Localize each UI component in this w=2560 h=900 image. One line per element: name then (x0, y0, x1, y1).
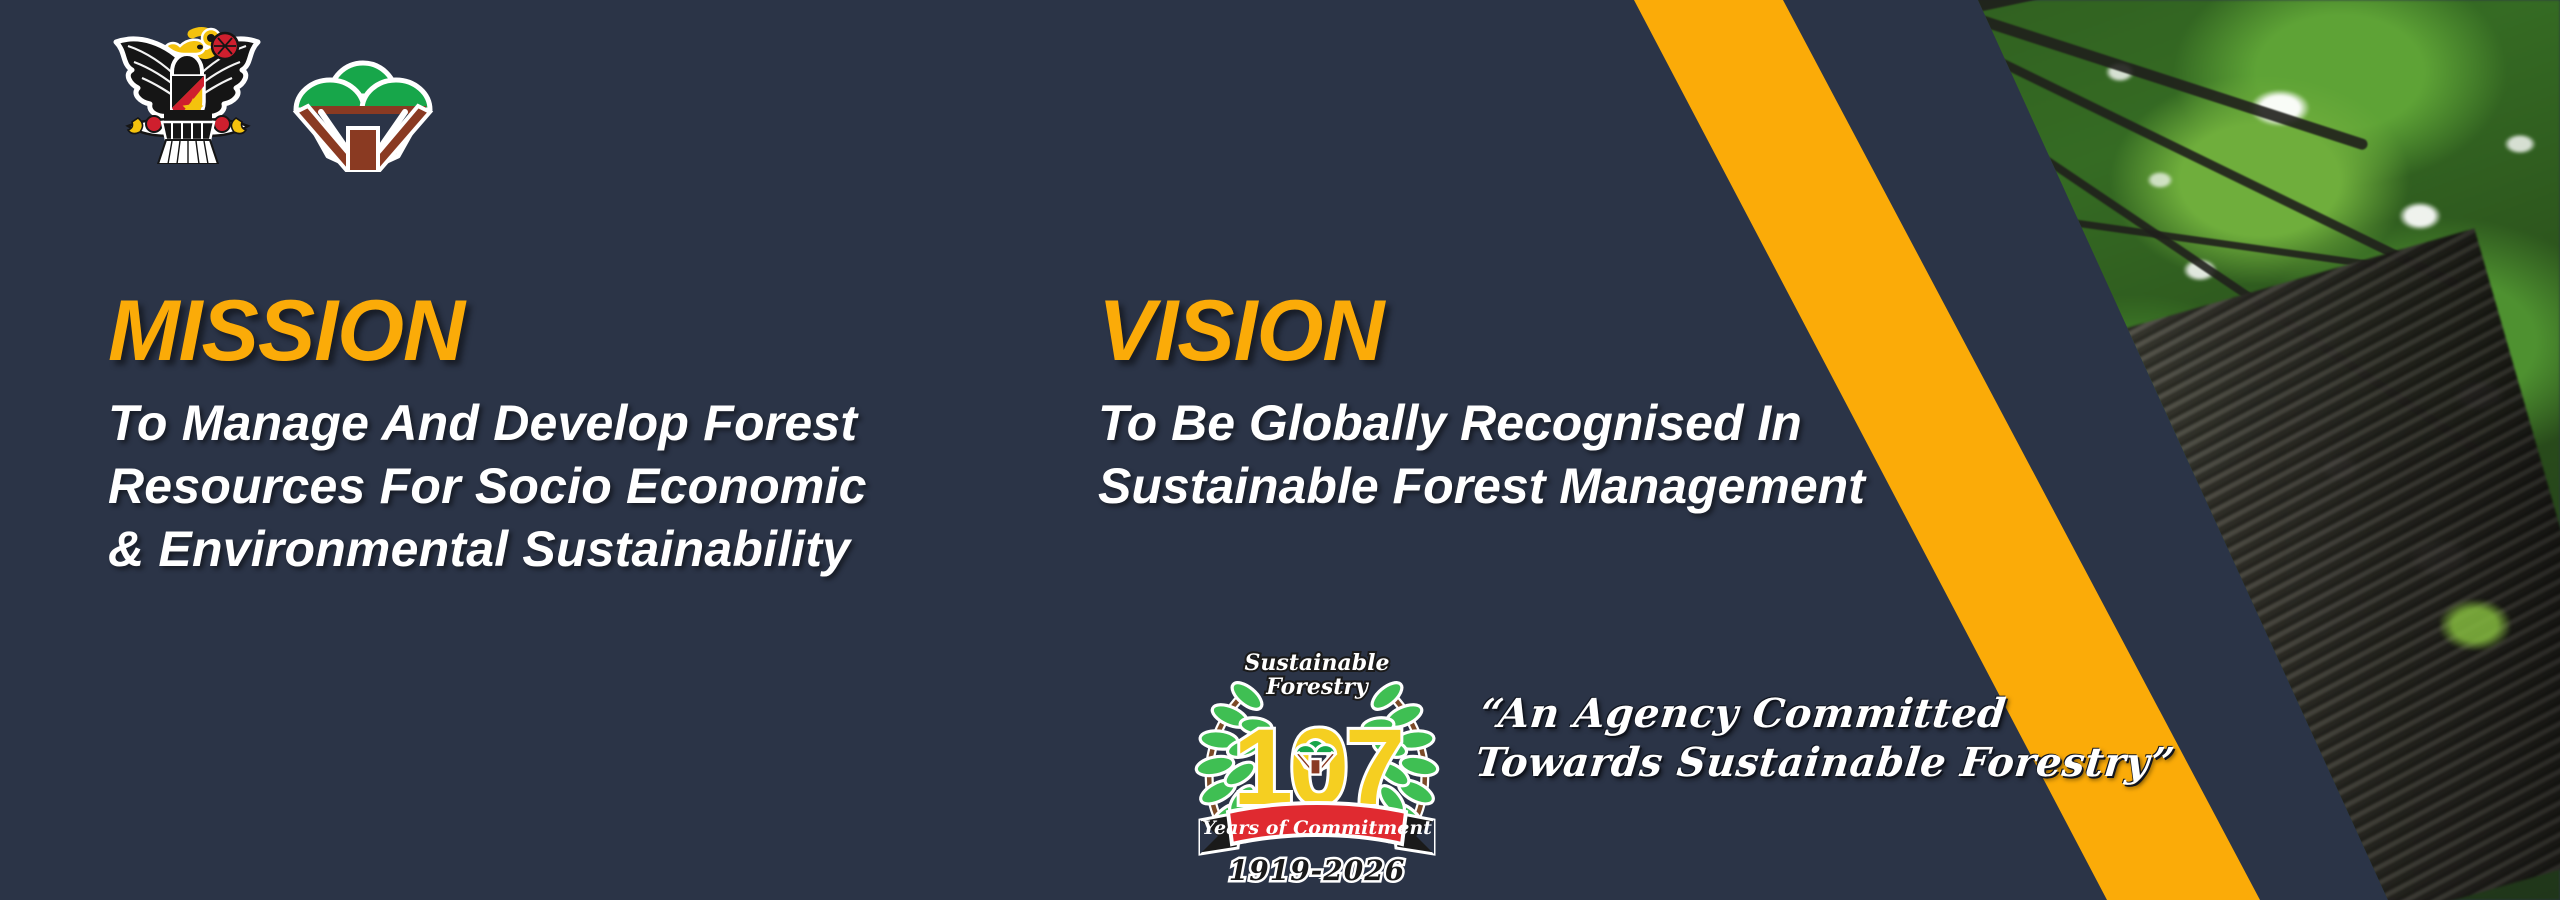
anniversary-107-logo: Sustainable Forestry 107 (1192, 636, 1442, 894)
anniv-years: 1919-2026 (1229, 854, 1405, 887)
tagline-line-2: Towards Sustainable Forestry” (1473, 739, 2098, 788)
anniv-top-line2: Forestry (1265, 674, 1370, 700)
mission-block: MISSION To Manage And Develop Forest Res… (108, 288, 988, 581)
sarawak-crest-icon (92, 14, 282, 169)
agency-tagline: “An Agency Committed Towards Sustainable… (1473, 690, 2103, 788)
vision-line-1: To Be Globally Recognised In (1098, 392, 2098, 455)
vision-heading: VISION (1098, 288, 2098, 376)
anniv-top-line1: Sustainable (1244, 650, 1389, 676)
mission-vision-banner: MISSION To Manage And Develop Forest Res… (0, 0, 2560, 900)
moss-patch (2440, 600, 2510, 650)
tagline-line-1: “An Agency Committed (1478, 690, 2103, 739)
moss-patch (1810, 520, 1900, 580)
anniv-ribbon-text: Years of Commitment (1202, 817, 1432, 839)
vision-lines: To Be Globally Recognised In Sustainable… (1098, 392, 2098, 518)
vision-block: VISION To Be Globally Recognised In Sust… (1098, 288, 2098, 518)
mission-line-1: To Manage And Develop Forest (108, 392, 988, 455)
mission-line-2: Resources For Socio Economic (108, 455, 988, 518)
logo-group (92, 14, 492, 172)
anniv-ribbon: Years of Commitment (1200, 803, 1434, 854)
mission-heading: MISSION (108, 288, 988, 376)
mission-line-3: & Environmental Sustainability (108, 518, 988, 581)
vision-line-2: Sustainable Forest Management (1098, 455, 2098, 518)
forest-department-tree-icon (288, 38, 438, 177)
mission-lines: To Manage And Develop Forest Resources F… (108, 392, 988, 581)
